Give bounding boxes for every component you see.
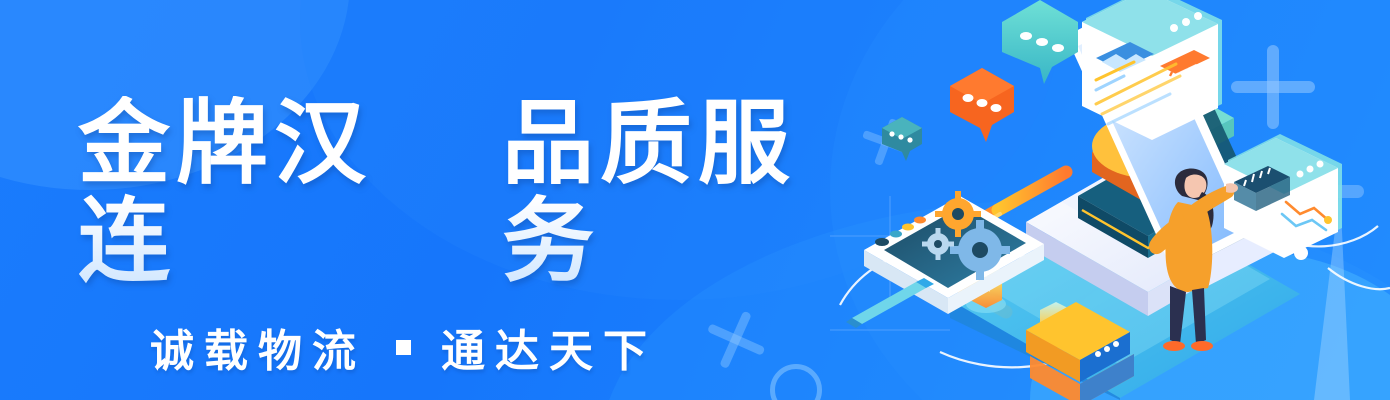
isometric-illustration bbox=[830, 0, 1390, 400]
subline-separator bbox=[396, 340, 411, 355]
subline-right: 通达天下 bbox=[441, 315, 657, 379]
chat-bubble-orange bbox=[950, 68, 1014, 142]
chat-bubble-small-teal bbox=[882, 117, 922, 161]
subline: 诚载物流 通达天下 bbox=[150, 315, 868, 379]
headline-part-1: 金牌汉连 bbox=[78, 96, 444, 291]
banner-copy: 金牌汉连 品质服务 诚载物流 通达天下 bbox=[78, 96, 868, 379]
promo-banner: 金牌汉连 品质服务 诚载物流 通达天下 bbox=[0, 0, 1390, 400]
headline: 金牌汉连 品质服务 bbox=[78, 96, 868, 291]
subline-left: 诚载物流 bbox=[150, 315, 366, 379]
chat-bubble-teal bbox=[1002, 0, 1078, 84]
headline-part-2: 品质服务 bbox=[502, 96, 868, 291]
